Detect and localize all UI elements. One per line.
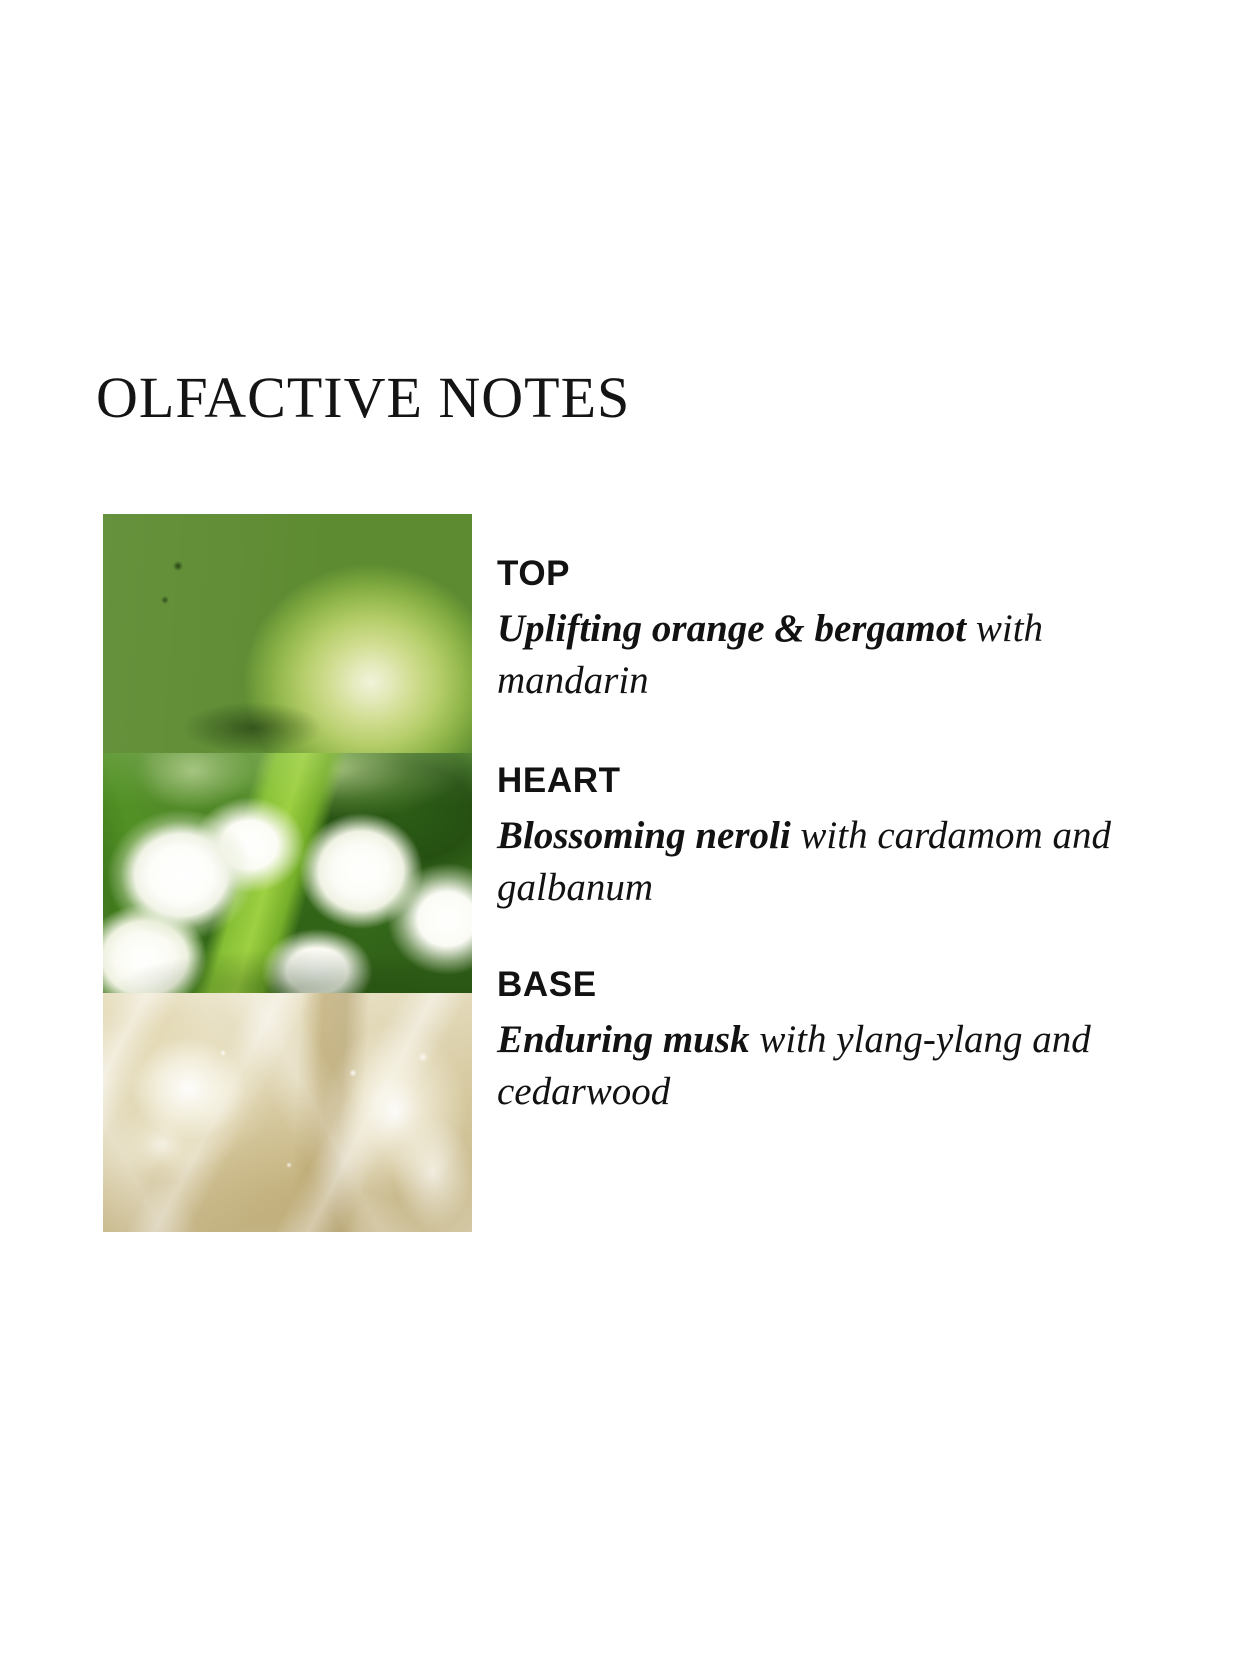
note-lead-heart: Blossoming neroli bbox=[497, 814, 791, 857]
orange-blossom-photo bbox=[103, 753, 472, 992]
page-title: OLFACTIVE NOTES bbox=[96, 369, 630, 427]
note-description-top: Uplifting orange & bergamot with mandari… bbox=[497, 603, 1117, 707]
note-label-base: BASE bbox=[497, 967, 1117, 1002]
resin-crystals-photo bbox=[103, 993, 472, 1232]
note-label-top: TOP bbox=[497, 556, 1117, 591]
olfactive-notes-list: TOP Uplifting orange & bergamot with man… bbox=[497, 556, 1117, 1118]
green-citrus-fruit-photo bbox=[103, 514, 472, 753]
note-description-heart: Blossoming neroli with cardamom and galb… bbox=[497, 810, 1117, 914]
note-block-base: BASE Enduring musk with ylang-ylang and … bbox=[497, 967, 1117, 1118]
olfactive-notes-page: OLFACTIVE NOTES TOP Uplifting orange & b… bbox=[0, 0, 1240, 1656]
note-block-heart: HEART Blossoming neroli with cardamom an… bbox=[497, 763, 1117, 914]
ingredient-image-column bbox=[103, 514, 472, 1232]
note-label-heart: HEART bbox=[497, 763, 1117, 798]
note-lead-top: Uplifting orange & bergamot bbox=[497, 607, 966, 650]
note-lead-base: Enduring musk bbox=[497, 1018, 750, 1061]
note-block-top: TOP Uplifting orange & bergamot with man… bbox=[497, 556, 1117, 707]
note-description-base: Enduring musk with ylang-ylang and cedar… bbox=[497, 1014, 1117, 1118]
